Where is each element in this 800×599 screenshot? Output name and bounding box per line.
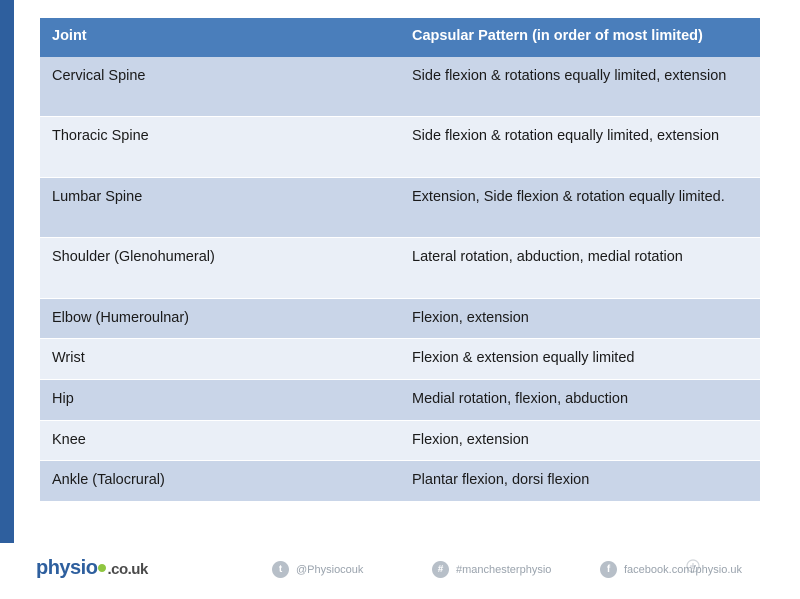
table-row: Hip Medial rotation, flexion, abduction <box>40 379 760 420</box>
social-facebook[interactable]: f facebook.com/physio.uk <box>600 561 742 578</box>
cell-joint: Wrist <box>40 339 400 380</box>
table-row: Ankle (Talocrural) Plantar flexion, dors… <box>40 461 760 502</box>
cell-joint: Knee <box>40 420 400 461</box>
watermark-icon <box>686 559 700 573</box>
cell-pattern: Lateral rotation, abduction, medial rota… <box>400 238 760 299</box>
social-facebook-url: facebook.com/physio.uk <box>624 564 742 576</box>
cell-pattern: Flexion, extension <box>400 420 760 461</box>
cell-pattern: Extension, Side flexion & rotation equal… <box>400 177 760 238</box>
table-row: Cervical Spine Side flexion & rotations … <box>40 57 760 117</box>
cell-joint: Hip <box>40 379 400 420</box>
table-header-row: Joint Capsular Pattern (in order of most… <box>40 18 760 57</box>
left-accent-bar <box>0 0 14 599</box>
logo-dot-icon <box>98 564 106 572</box>
social-hashtag-text: #manchesterphysio <box>456 564 551 576</box>
cell-pattern: Flexion, extension <box>400 298 760 339</box>
table-row: Elbow (Humeroulnar) Flexion, extension <box>40 298 760 339</box>
table-row: Thoracic Spine Side flexion & rotation e… <box>40 117 760 178</box>
twitter-icon: t <box>272 561 289 578</box>
facebook-icon: f <box>600 561 617 578</box>
physio-logo: physio.co.uk <box>36 557 148 580</box>
cell-pattern: Side flexion & rotation equally limited,… <box>400 117 760 178</box>
column-header-pattern: Capsular Pattern (in order of most limit… <box>400 18 760 57</box>
table-row: Lumbar Spine Extension, Side flexion & r… <box>40 177 760 238</box>
logo-tld: .co.uk <box>107 561 147 578</box>
social-twitter[interactable]: t @Physiocouk <box>272 561 363 578</box>
cell-joint: Thoracic Spine <box>40 117 400 178</box>
cell-pattern: Flexion & extension equally limited <box>400 339 760 380</box>
cell-joint: Cervical Spine <box>40 57 400 117</box>
table-row: Wrist Flexion & extension equally limite… <box>40 339 760 380</box>
table-row: Shoulder (Glenohumeral) Lateral rotation… <box>40 238 760 299</box>
column-header-joint: Joint <box>40 18 400 57</box>
table-row: Knee Flexion, extension <box>40 420 760 461</box>
cell-pattern: Side flexion & rotations equally limited… <box>400 57 760 117</box>
cell-joint: Shoulder (Glenohumeral) <box>40 238 400 299</box>
social-twitter-handle: @Physiocouk <box>296 564 363 576</box>
logo-text: physio <box>36 557 97 579</box>
cell-joint: Ankle (Talocrural) <box>40 461 400 502</box>
social-hashtag[interactable]: # #manchesterphysio <box>432 561 551 578</box>
cell-joint: Elbow (Humeroulnar) <box>40 298 400 339</box>
cell-pattern: Medial rotation, flexion, abduction <box>400 379 760 420</box>
slide: Joint Capsular Pattern (in order of most… <box>0 0 800 599</box>
cell-joint: Lumbar Spine <box>40 177 400 238</box>
slide-footer: physio.co.uk t @Physiocouk # #manchester… <box>0 543 800 599</box>
cell-pattern: Plantar flexion, dorsi flexion <box>400 461 760 502</box>
capsular-pattern-table: Joint Capsular Pattern (in order of most… <box>40 18 760 502</box>
hashtag-icon: # <box>432 561 449 578</box>
